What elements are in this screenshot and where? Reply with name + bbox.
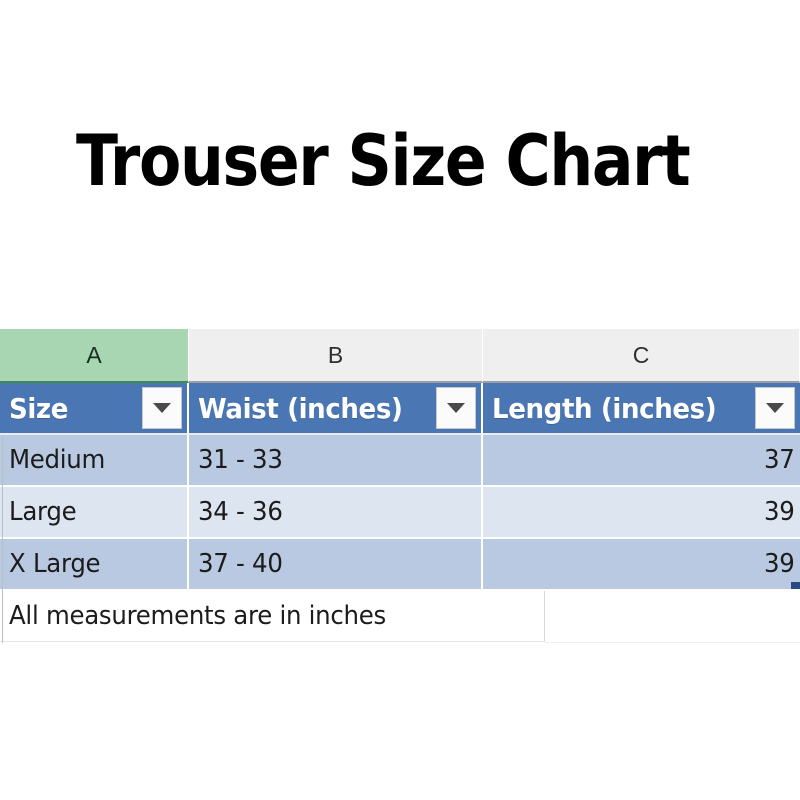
column-header-c[interactable]: C — [483, 329, 800, 383]
table-row[interactable]: Medium 31 - 33 37 — [0, 435, 800, 487]
cell-size[interactable]: Large — [0, 487, 189, 539]
cell-waist-value: 31 - 33 — [198, 445, 283, 475]
footer-note-filler — [545, 591, 800, 643]
chevron-down-icon — [766, 403, 784, 413]
cell-length[interactable]: 37 — [483, 435, 800, 487]
selection-fill-handle[interactable] — [791, 582, 800, 591]
filter-dropdown-icon-length[interactable] — [755, 387, 795, 429]
cell-waist[interactable]: 34 - 36 — [189, 487, 483, 539]
footer-note-cell[interactable]: All measurements are in inches — [0, 591, 545, 642]
cell-waist[interactable]: 37 - 40 — [189, 539, 483, 591]
table-row[interactable]: Large 34 - 36 39 — [0, 487, 800, 539]
filter-dropdown-icon-waist[interactable] — [436, 387, 476, 429]
chevron-down-icon — [153, 403, 171, 413]
cell-waist[interactable]: 31 - 33 — [189, 435, 483, 487]
chevron-down-icon — [447, 403, 465, 413]
cell-waist-value: 34 - 36 — [198, 497, 283, 527]
cell-waist-value: 37 - 40 — [198, 549, 283, 579]
column-letter-header-row: A B C — [0, 329, 800, 383]
column-header-b[interactable]: B — [189, 329, 483, 383]
footer-note-text: All measurements are in inches — [9, 601, 386, 631]
cell-size[interactable]: X Large — [0, 539, 189, 591]
page-title: Trouser Size Chart — [76, 125, 689, 199]
cell-length-value: 37 — [763, 445, 794, 475]
spreadsheet-table: A B C Size Waist (inches) Length (inches… — [0, 329, 800, 642]
table-header-cell-size: Size — [0, 383, 189, 435]
filter-dropdown-icon-size[interactable] — [142, 387, 182, 429]
table-row[interactable]: X Large 37 - 40 39 — [0, 539, 800, 591]
cell-size-value: Large — [9, 497, 76, 527]
table-header-row: Size Waist (inches) Length (inches) — [0, 383, 800, 435]
cell-length-value: 39 — [763, 497, 794, 527]
footer-note-row: All measurements are in inches — [0, 591, 800, 642]
cell-length-value: 39 — [763, 549, 794, 579]
cell-size-value: Medium — [9, 445, 105, 475]
table-header-label-length: Length (inches) — [492, 392, 716, 425]
table-header-cell-waist: Waist (inches) — [189, 383, 483, 435]
table-header-cell-length: Length (inches) — [483, 383, 800, 435]
column-header-a[interactable]: A — [0, 329, 189, 383]
cell-size[interactable]: Medium — [0, 435, 189, 487]
table-header-label-size: Size — [9, 392, 68, 425]
table-header-label-waist: Waist (inches) — [198, 392, 402, 425]
cell-length[interactable]: 39 — [483, 539, 800, 591]
cell-length[interactable]: 39 — [483, 487, 800, 539]
cell-size-value: X Large — [9, 549, 100, 579]
